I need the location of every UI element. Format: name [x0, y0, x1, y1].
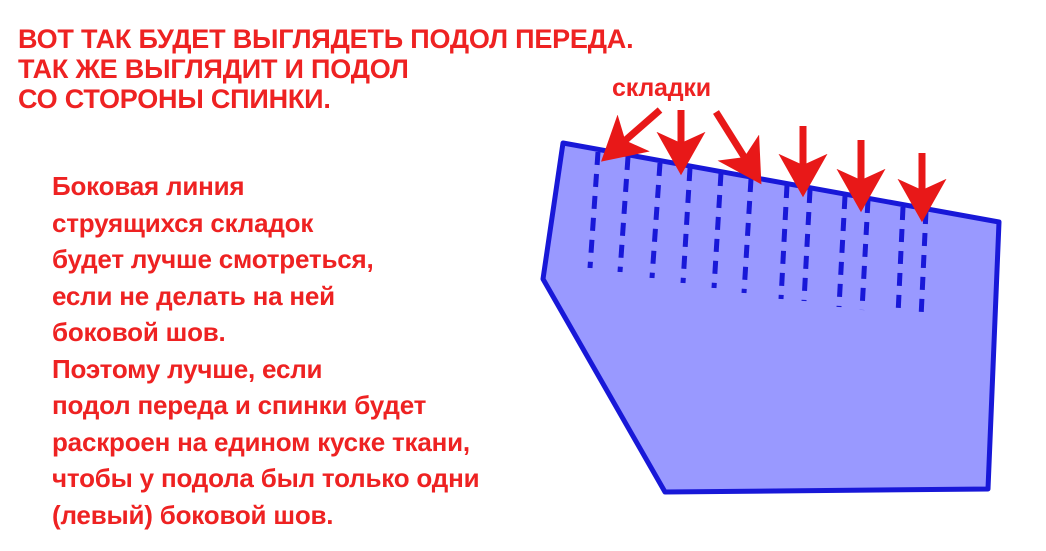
- arrow-diagonal-right-icon: [716, 112, 748, 163]
- diagram-canvas: ВОТ ТАК БУДЕТ ВЫГЛЯДЕТЬ ПОДОЛ ПЕРЕДА. ТА…: [0, 0, 1046, 551]
- arrow-diagonal-left-icon: [620, 110, 660, 145]
- hem-panel-shape: [543, 143, 999, 492]
- hem-pattern-illustration: [0, 0, 1046, 551]
